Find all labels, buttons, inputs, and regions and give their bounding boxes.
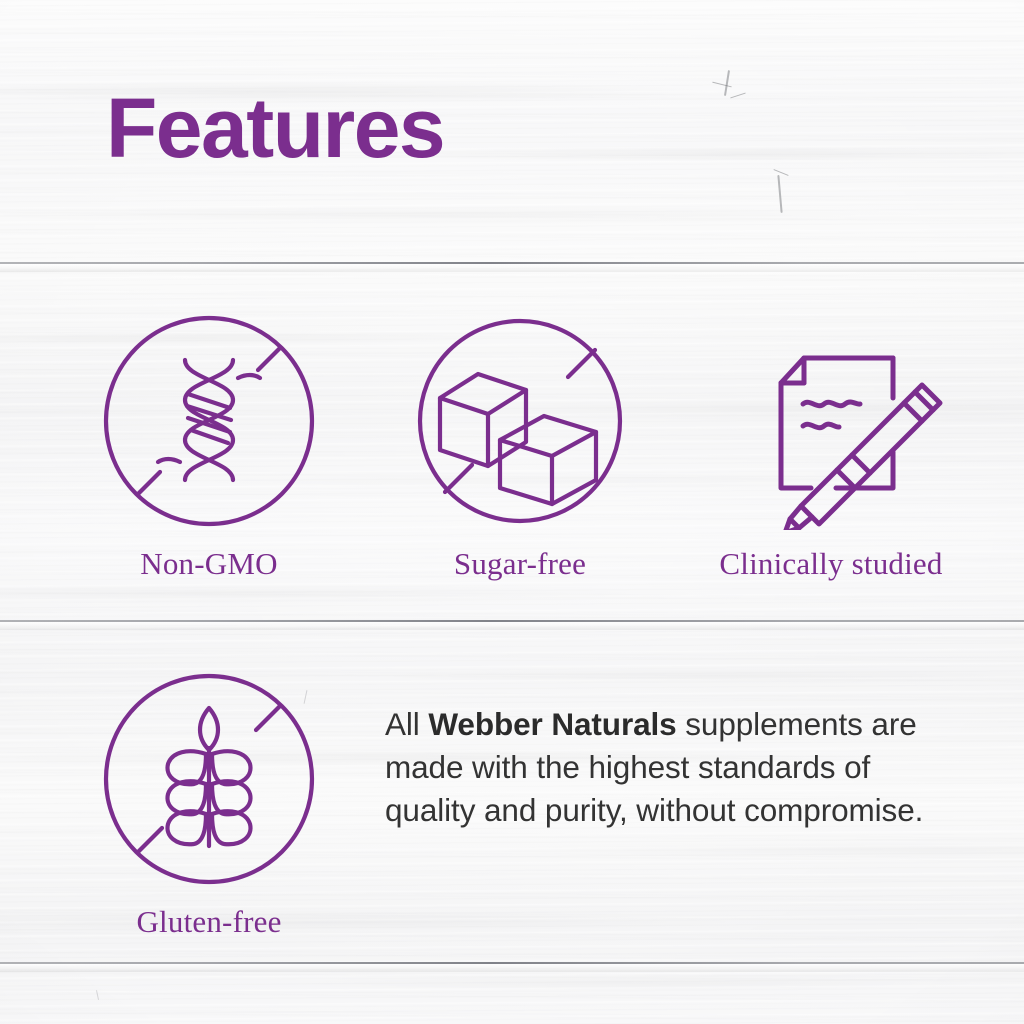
no-sugar-cubes-icon	[392, 312, 648, 530]
brand-name: Webber Naturals	[428, 706, 676, 742]
feature-gluten-free: Gluten-free	[84, 668, 334, 940]
no-wheat-icon	[84, 668, 334, 890]
brand-statement: All Webber Naturals supplements are made…	[385, 703, 945, 832]
page-title: Features	[106, 86, 444, 170]
feature-non-gmo: Non-GMO	[84, 312, 334, 582]
document-and-pen-icon	[686, 312, 976, 530]
feature-clinically-studied: Clinically studied	[686, 312, 976, 582]
feature-label-non-gmo: Non-GMO	[84, 546, 334, 582]
feature-label-gluten-free: Gluten-free	[84, 904, 334, 940]
feature-label-sugar-free: Sugar-free	[392, 546, 648, 582]
feature-sugar-free: Sugar-free	[392, 312, 648, 582]
feature-label-clinically-studied: Clinically studied	[686, 546, 976, 582]
no-gmo-dna-icon	[84, 312, 334, 530]
brand-statement-prefix: All	[385, 706, 428, 742]
features-panel: Features Non-GMO	[0, 0, 1024, 1024]
